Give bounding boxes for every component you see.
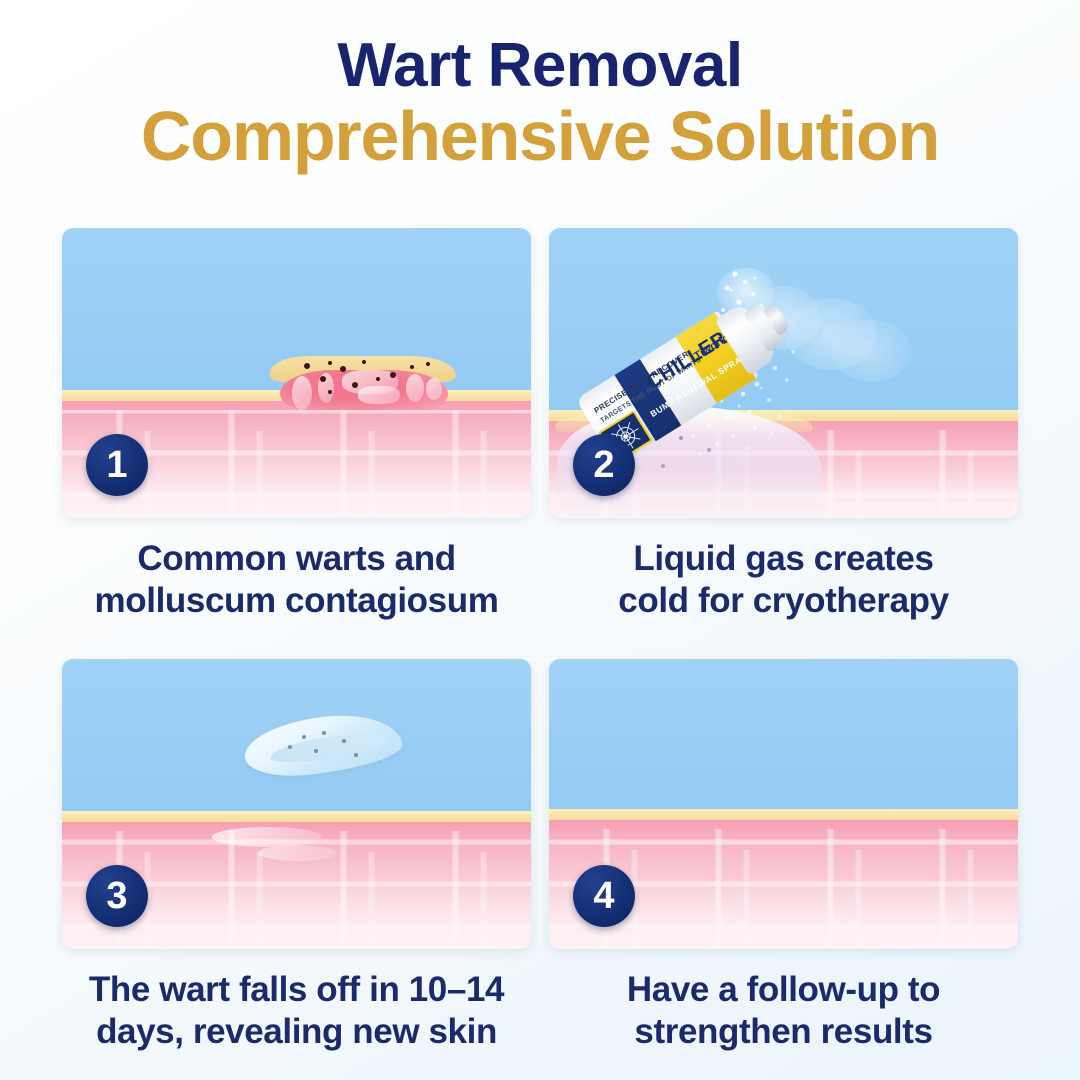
flake-spot — [322, 731, 326, 735]
caption-line: molluscum contagiosum — [62, 580, 531, 622]
flake-spot — [342, 739, 346, 743]
caption-line: strengthen results — [549, 1011, 1018, 1053]
step-number-badge-4: 4 — [573, 865, 635, 927]
title-line-2: Comprehensive Solution — [0, 101, 1080, 172]
step-2-illustration: PRECISE CRYO RECOVER TARGETS THE ROOT OF… — [549, 228, 1018, 518]
wart-lobe — [406, 374, 424, 402]
wart-dark-spot — [410, 365, 414, 369]
caption-line: cold for cryotherapy — [549, 580, 1018, 622]
step-4-caption: Have a follow-up to strengthen results — [549, 969, 1018, 1053]
step-card-1[interactable]: 1 Common warts and molluscum contagiosum — [62, 228, 531, 622]
flake-spot — [314, 749, 318, 753]
product-spray-can: PRECISE CRYO RECOVER TARGETS THE ROOT OF… — [553, 228, 803, 448]
wart-dark-spot — [376, 377, 380, 381]
step-3-illustration: 3 — [62, 659, 531, 949]
steps-grid: 1 Common warts and molluscum contagiosum — [62, 228, 1018, 1053]
step-number-badge-3: 3 — [86, 865, 148, 927]
step-card-2[interactable]: PRECISE CRYO RECOVER TARGETS THE ROOT OF… — [549, 228, 1018, 622]
page-title: Wart Removal Comprehensive Solution — [0, 34, 1080, 173]
wart-dark-spot — [426, 362, 430, 366]
new-skin-patch — [212, 827, 322, 847]
wart-dark-spot — [328, 361, 332, 365]
new-skin-patch — [258, 845, 338, 861]
wart-dark-spot — [362, 360, 366, 364]
wart-dark-spot — [390, 372, 396, 378]
step-1-caption: Common warts and molluscum contagiosum — [62, 538, 531, 622]
steps-row-top: 1 Common warts and molluscum contagiosum — [62, 228, 1018, 622]
wart-lesion — [270, 356, 456, 404]
caption-line: Liquid gas creates — [549, 538, 1018, 580]
wart-lobe — [426, 378, 442, 400]
wart-dark-spot — [328, 390, 332, 394]
wart-dark-spot — [340, 366, 346, 372]
wart-dark-spot — [304, 363, 310, 369]
step-number-badge-1: 1 — [86, 434, 148, 496]
flake-spot — [302, 735, 306, 739]
step-card-4[interactable]: 4 Have a follow-up to strengthen results — [549, 659, 1018, 1053]
caption-line: Have a follow-up to — [549, 969, 1018, 1011]
caption-line: Common warts and — [62, 538, 531, 580]
steps-row-bottom: 3 The wart falls off in 10–14 days, reve… — [62, 659, 1018, 1053]
caption-line: days, revealing new skin — [62, 1011, 531, 1053]
step-number-badge-2: 2 — [573, 434, 635, 496]
sky-background — [549, 659, 1018, 817]
flake-spot — [288, 745, 292, 749]
wart-lobe — [358, 386, 400, 404]
step-2-caption: Liquid gas creates cold for cryotherapy — [549, 538, 1018, 622]
step-4-illustration: 4 — [549, 659, 1018, 949]
title-line-1: Wart Removal — [0, 34, 1080, 97]
step-3-caption: The wart falls off in 10–14 days, reveal… — [62, 969, 531, 1053]
detached-wart-flake — [244, 717, 402, 777]
wart-dark-spot — [352, 382, 358, 388]
step-card-3[interactable]: 3 The wart falls off in 10–14 days, reve… — [62, 659, 531, 1053]
step-1-illustration: 1 — [62, 228, 531, 518]
frozen-spot — [661, 464, 665, 468]
wart-lobe — [292, 376, 312, 410]
wart-dark-spot — [320, 376, 326, 382]
flake-spot — [354, 753, 358, 757]
frozen-spot — [707, 448, 711, 452]
caption-line: The wart falls off in 10–14 — [62, 969, 531, 1011]
